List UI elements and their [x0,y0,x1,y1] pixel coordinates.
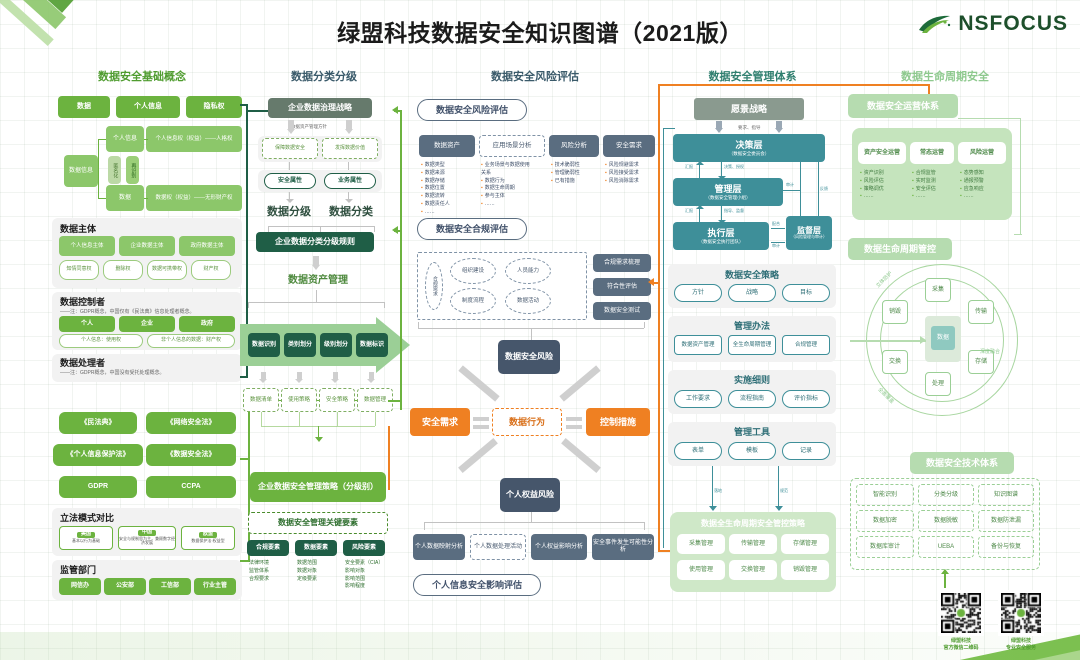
column-header-basics: 数据安全基础概念 [52,68,232,84]
concept-data-right[interactable]: 数据权（权益）——无形财产权 [146,185,242,211]
privacy-item-0[interactable]: 个人数据映射分析 [413,534,465,560]
law-4[interactable]: GDPR [59,476,137,498]
enterprise-policy[interactable]: 企业数据安全管理策略（分级别） [250,472,386,502]
output-2[interactable]: 安全策略 [319,388,355,412]
label-report-2: 汇报 [685,208,693,214]
label-decision: 决策、授权 [724,164,744,170]
group-2-item-1[interactable]: 流程指南 [728,390,776,408]
compliance-title[interactable]: 数据安全合规评估 [417,218,527,240]
key-element-items-2: 安全要素（CIA）影响对象影响范围影响程度 [345,560,383,591]
governance-strategy[interactable]: 企业数据治理战略 [268,98,372,118]
key-element-items-1: 数据范围数据对象定级要素 [297,560,317,583]
subject-role-2[interactable]: 政府数据主体 [179,236,235,256]
label-supervise: 指导、监督 [724,208,744,214]
compliance-center[interactable]: 合规需求 [425,262,443,310]
group-3-item-1[interactable]: 模板 [728,442,776,460]
dual-goal-0[interactable]: 保障数据安全 [262,138,318,159]
label-audit-1: 审计 [786,182,794,188]
flow-step-1[interactable]: 类别划分 [284,333,316,357]
label-feedback: 反馈 [820,186,828,192]
privacy-item-1[interactable]: 个人数据处理活动 [470,534,526,560]
data-security-risk[interactable]: 数据安全风险 [498,340,560,374]
lifecycle-stage-4[interactable]: 交换 [882,350,908,374]
attr-business[interactable]: 业务属性 [324,173,376,189]
anonymize-arrow-label: 匿名化 [108,156,121,184]
lifecycle-stage-0[interactable]: 采集 [925,278,951,302]
control-measure[interactable]: 控制措施 [586,408,650,436]
label-audit-2: 审计 [772,243,780,249]
controller-right-1[interactable]: 非个人信息的数据：财产权 [147,334,235,348]
group-3-item-2[interactable]: 记录 [782,442,830,460]
data-subject-title: 数据主体 [60,222,96,235]
pia-title[interactable]: 个人信息安全影响评估 [413,574,541,596]
qr-caption-0: 绿盟科技 官方微信二维码 [930,638,992,651]
policy-label: 数据资产管理方针 [291,124,327,130]
classification-rule[interactable]: 企业数据分类分级规则 [256,232,374,252]
lifecycle-stage-3[interactable]: 处理 [925,372,951,396]
law-5[interactable]: CCPA [146,476,236,498]
lifecycle-policy-title: 数据全生命周期安全管控策略 [670,518,836,529]
concept-data[interactable]: 数据 [106,185,144,211]
concept-personal-info-right[interactable]: 个人信息权（权益）——人格权 [146,126,242,152]
subject-role-0[interactable]: 个人信息主体 [59,236,115,256]
regulator-3[interactable]: 行业主管 [194,578,236,595]
attr-security[interactable]: 安全属性 [264,173,316,189]
compliance-right-0[interactable]: 合规需求梳理 [593,254,651,272]
label-coop-1: 配合 [772,221,780,227]
risk-card-items-0: 数据类型数据来源数据存储数据位置数据流转数据责任人…… [421,162,450,216]
vision-arrow-label: 要求、指导 [738,125,761,131]
label-report-1: 汇报 [685,164,693,170]
regulator-2[interactable]: 工信部 [149,578,191,595]
controller-right-0[interactable]: 个人信息：使用权 [59,334,143,348]
flow-step-0[interactable]: 数据识别 [248,333,280,357]
flow-step-2[interactable]: 级别划分 [320,333,352,357]
subject-right-1[interactable]: 删除权 [103,260,143,280]
tech-item-5[interactable]: 数据防泄漏 [978,510,1034,532]
group-title-1: 管理办法 [668,319,836,332]
risk-assessment-title[interactable]: 数据安全风险评估 [417,99,527,121]
group-title-0: 数据安全策略 [668,268,836,281]
lifecycle-policy-item-5[interactable]: 销毁管理 [781,560,829,580]
lifecycle-policy-item-4[interactable]: 交换管理 [729,560,777,580]
regulators-title: 监管部门 [60,563,96,576]
data-behavior[interactable]: 数据行为 [492,408,562,436]
layer-supervision[interactable]: 监督层（风险管理与审计） [786,216,832,250]
ops-group-2[interactable]: 风险运营 [958,142,1006,164]
law-3[interactable]: 《数据安全法》 [146,444,236,466]
tech-item-8[interactable]: 备份与恢复 [978,536,1034,558]
ops-group-0[interactable]: 资产安全运营 [858,142,906,164]
compliance-node-0[interactable]: 组织建设 [450,258,496,284]
lifecycle-title[interactable]: 数据生命周期管控 [848,238,952,260]
nsfocus-swoosh-icon [918,13,952,35]
legislation-item-0[interactable]: 美国 基本以行为基础 [59,526,113,550]
concept-personal-info[interactable]: 个人信息 [106,126,144,152]
data-controller-title: 数据控制者 [60,295,105,308]
legislation-title: 立法模式对比 [60,511,114,524]
reidentify-arrow-label: 再识别 [126,156,139,184]
legislation-item-1[interactable]: 中国 安全与规制思为主，兼顾数字经济发展 [118,526,176,550]
law-2[interactable]: 《个人信息保护法》 [53,444,143,466]
concept-chip-data[interactable]: 数据 [58,96,110,118]
compliance-node-2[interactable]: 制度流程 [450,288,496,314]
subject-right-3[interactable]: 财产权 [191,260,231,280]
risk-card-2[interactable]: 风险分析 [549,135,599,157]
key-element-2[interactable]: 风险要素 [343,540,385,556]
data-processor-title: 数据处理者 [60,356,105,369]
concept-data-info[interactable]: 数据信息 [64,155,98,187]
controller-role-1[interactable]: 企业 [119,316,175,332]
risk-card-0[interactable]: 数据资产 [419,135,475,157]
ops-items-0: 资产识别风险评估策略调优…… [860,170,884,201]
concept-chip-personal-info[interactable]: 个人信息 [116,96,180,118]
tech-item-4[interactable]: 数据脱敏 [918,510,974,532]
tech-item-6[interactable]: 数据库审计 [856,536,914,558]
layer-decision[interactable]: 决策层（数据安全委员会） [673,134,825,162]
lifecycle-policy-item-1[interactable]: 传输管理 [729,534,777,554]
subject-right-0[interactable]: 知情同意权 [59,260,99,280]
qr-code-0[interactable] [938,590,984,636]
label-standard: 规范 [780,488,788,494]
lifecycle-policy-item-0[interactable]: 采集管理 [677,534,725,554]
compliance-node-3[interactable]: 数据活动 [505,288,551,314]
compliance-right-1[interactable]: 符合性评估 [593,278,651,296]
layer-execution[interactable]: 执行层（数据安全执行团队） [673,222,769,250]
group-title-3: 管理工具 [668,425,836,438]
ops-items-1: 合规监管实时监测安全评估…… [912,170,936,201]
lifecycle-center: 数据 [931,326,955,350]
legislation-item-2[interactable]: 欧盟 数据保护法·权益型 [181,526,235,550]
ops-title[interactable]: 数据安全运营体系 [848,94,958,118]
output-0[interactable]: 数据清单 [243,388,279,412]
data-processor-note: ——注：GDPR概念，中国没有受托处理概念。 [60,369,164,376]
tech-title[interactable]: 数据安全技术体系 [910,452,1014,474]
lifecycle-policy-item-2[interactable]: 存储管理 [781,534,829,554]
qr-code-1[interactable] [998,590,1044,636]
tech-item-3[interactable]: 数据加密 [856,510,914,532]
bottom-decoration [0,590,1080,660]
group-0-item-1[interactable]: 战略 [728,284,776,302]
ring-label-1: 深度融合 [980,348,1000,355]
law-0[interactable]: 《民法典》 [59,412,137,434]
ops-items-2: 态势感知通报预警应急响应…… [960,170,984,201]
privacy-item-3[interactable]: 安全事件发生可能性分析 [592,534,654,560]
group-title-2: 实施细则 [668,373,836,386]
controller-role-0[interactable]: 个人 [59,316,115,332]
column-header-classification: 数据分类分级 [238,68,410,84]
regulator-1[interactable]: 公安部 [104,578,146,595]
lifecycle-policy-item-3[interactable]: 使用管理 [677,560,725,580]
privacy-risk[interactable]: 个人权益风险 [500,478,560,512]
group-1-item-1[interactable]: 全生命周期管理 [728,335,776,355]
risk-card-items-1: 业务场景与数据使用关系数据行为数据生命周期参与主体…… [481,162,533,209]
group-0-item-0[interactable]: 方针 [674,284,722,302]
group-1-item-0[interactable]: 数据资产管理 [674,335,722,355]
privacy-item-2[interactable]: 个人权益影响分析 [531,534,587,560]
group-2-item-0[interactable]: 工作要求 [674,390,722,408]
lifecycle-stage-1[interactable]: 传输 [968,300,994,324]
concept-chip-privacy[interactable]: 隐私权 [186,96,242,118]
subject-role-1[interactable]: 企业数据主体 [119,236,175,256]
tech-item-2[interactable]: 知识图谱 [978,484,1034,506]
key-elements-title: 数据安全管理关键要素 [248,512,388,534]
regulator-0[interactable]: 网信办 [59,578,101,595]
risk-card-items-3: 风险规避需求风险接受需求风险消除需求 [605,162,639,185]
qr-caption-1: 绿盟科技 专业安全服务 [990,638,1052,651]
layer-management[interactable]: 管理层（数据安全管理小组） [673,178,783,206]
group-2-item-2[interactable]: 评价指标 [782,390,830,408]
key-element-1[interactable]: 数据要素 [295,540,337,556]
group-0-item-2[interactable]: 目标 [782,284,830,302]
page-header: 绿盟科技数据安全知识图谱（2021版） NSFOCUS [0,0,1080,56]
label-implement: 落地 [714,488,722,494]
logo-text: NSFOCUS [958,12,1068,36]
tech-item-0[interactable]: 智能识别 [856,484,914,506]
data-controller-note: ——注：GDPR概念，中国仅有《民法典》信息处理者概念。 [60,308,194,315]
risk-card-1[interactable]: 应用场景分析 [479,135,545,157]
tech-item-7[interactable]: UEBA [918,536,974,558]
column-header-risk: 数据安全风险评估 [415,68,655,84]
risk-card-items-2: 技术脆弱性管理脆弱性已有措施 [551,162,580,185]
compliance-node-1[interactable]: 人员能力 [505,258,551,284]
output-1[interactable]: 使用策略 [281,388,317,412]
compliance-right-2[interactable]: 数据安全测试 [593,302,651,320]
ops-group-1[interactable]: 常态运营 [910,142,954,164]
group-3-item-0[interactable]: 表单 [674,442,722,460]
column-header-lifecycle: 数据生命周期安全 [850,68,1040,84]
flow-step-3[interactable]: 数据标识 [356,333,388,357]
vision-strategy[interactable]: 愿景战略 [694,98,804,120]
key-element-items-0: 法律环境监管体系合规要求 [249,560,269,583]
asset-management: 数据资产管理 [258,272,378,290]
group-1-item-2[interactable]: 合规管理 [782,335,830,355]
brand-logo: NSFOCUS [918,12,1068,36]
tech-item-1[interactable]: 分类分级 [918,484,974,506]
column-header-management: 数据安全管理体系 [660,68,845,84]
security-requirement[interactable]: 安全需求 [410,408,470,436]
lifecycle-stage-5[interactable]: 销毁 [882,300,908,324]
risk-card-3[interactable]: 安全需求 [603,135,655,157]
key-element-0[interactable]: 合规要素 [247,540,289,556]
controller-role-2[interactable]: 政府 [179,316,235,332]
subject-right-2[interactable]: 数据可携带权 [147,260,187,280]
law-1[interactable]: 《网络安全法》 [146,412,236,434]
dual-goal-1[interactable]: 发挥数据价值 [322,138,378,159]
data-category: 数据分类 [320,204,382,220]
data-grading: 数据分级 [258,204,320,220]
